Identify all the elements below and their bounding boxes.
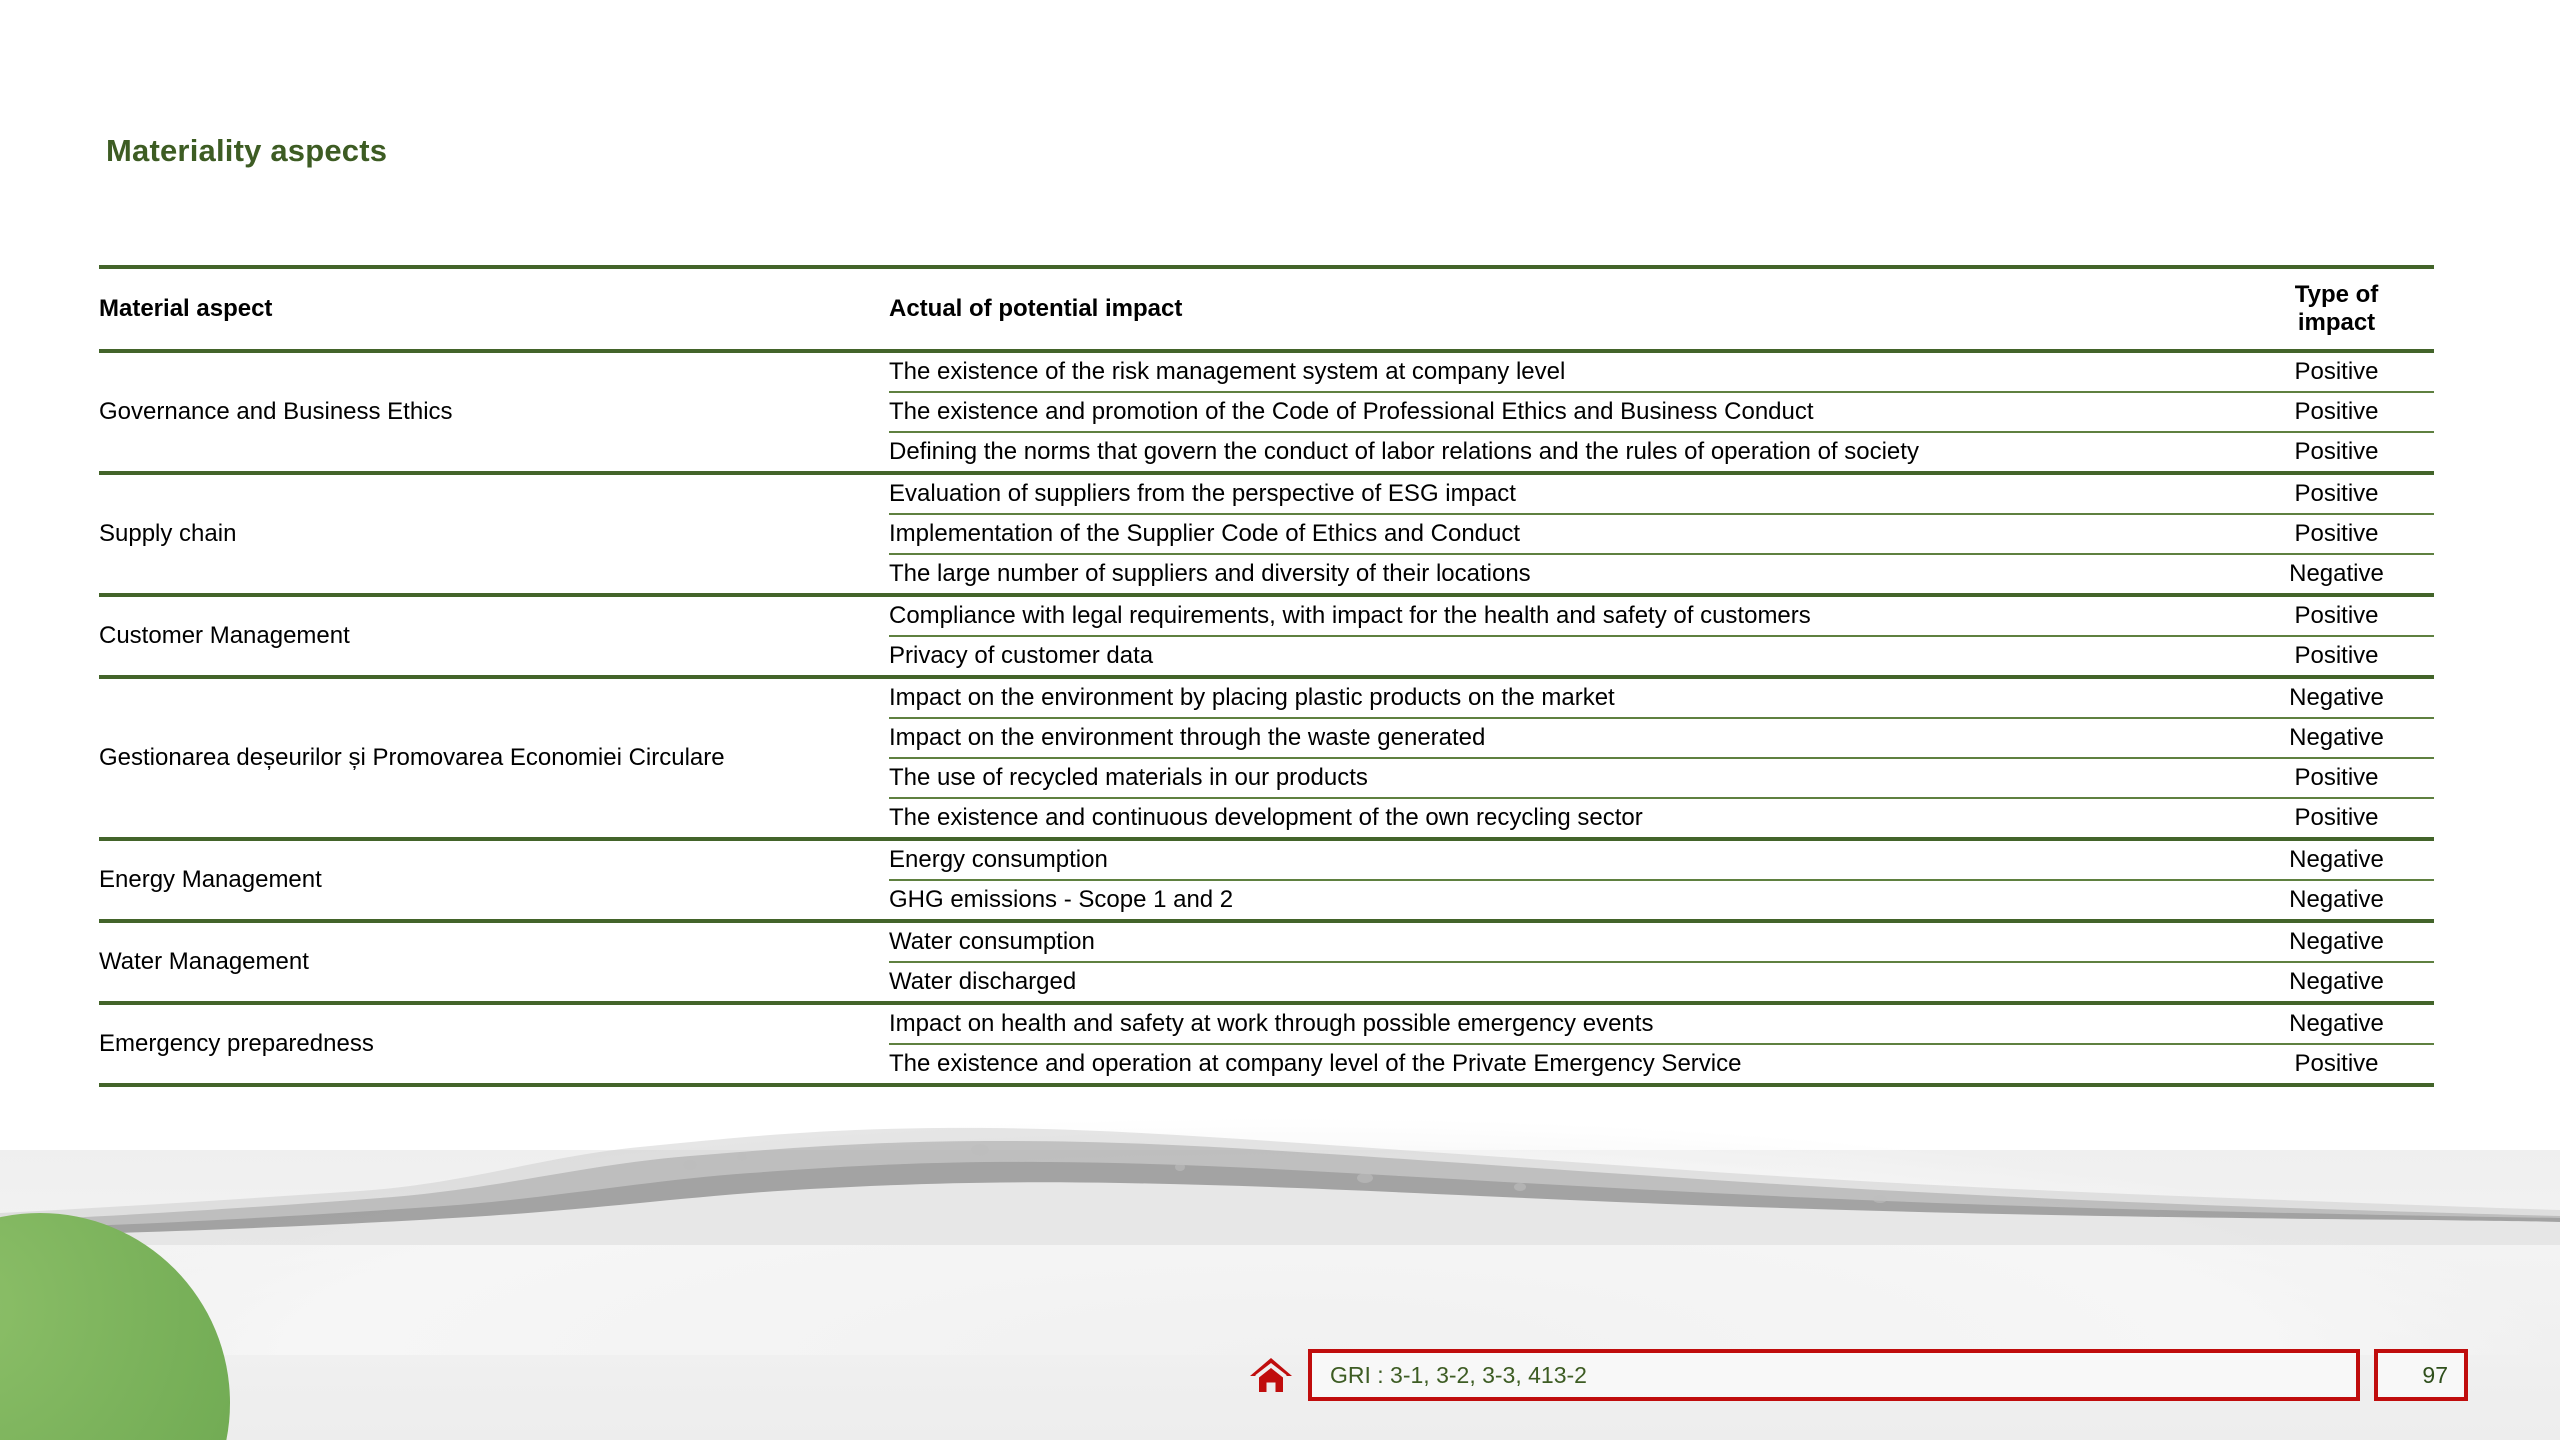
impact-type-cell: Positive [2239, 758, 2434, 798]
material-aspect-cell: Governance and Business Ethics [99, 351, 889, 473]
table-body: Governance and Business EthicsThe existe… [99, 351, 2434, 1085]
gri-reference-box[interactable]: GRI : 3-1, 3-2, 3-3, 413-2 [1308, 1349, 2360, 1401]
table-row: Supply chainEvaluation of suppliers from… [99, 473, 2434, 514]
column-header-type-of-impact: Type of impact [2239, 267, 2434, 351]
impact-description-cell: Privacy of customer data [889, 636, 2239, 677]
column-header-type-line2: impact [2298, 309, 2375, 336]
column-header-type-line1: Type of [2295, 281, 2379, 308]
material-aspect-cell: Supply chain [99, 473, 889, 595]
impact-type-cell: Positive [2239, 473, 2434, 514]
table-row: Governance and Business EthicsThe existe… [99, 351, 2434, 392]
water-surface-illustration [0, 1095, 2560, 1245]
impact-type-cell: Negative [2239, 554, 2434, 595]
material-aspect-cell: Water Management [99, 921, 889, 1003]
impact-description-cell: The existence and promotion of the Code … [889, 392, 2239, 432]
impact-type-cell: Negative [2239, 677, 2434, 718]
materiality-aspects-table: Material aspect Actual of potential impa… [99, 265, 2434, 1087]
material-aspect-cell: Customer Management [99, 595, 889, 677]
impact-description-cell: Implementation of the Supplier Code of E… [889, 514, 2239, 554]
impact-description-cell: Impact on health and safety at work thro… [889, 1003, 2239, 1044]
impact-description-cell: Impact on the environment through the wa… [889, 718, 2239, 758]
table-row: Energy ManagementEnergy consumptionNegat… [99, 839, 2434, 880]
page-number-box[interactable]: 97 [2374, 1349, 2468, 1401]
table-header-row: Material aspect Actual of potential impa… [99, 267, 2434, 351]
impact-description-cell: The use of recycled materials in our pro… [889, 758, 2239, 798]
material-aspect-cell: Gestionarea deșeurilor și Promovarea Eco… [99, 677, 889, 839]
impact-type-cell: Positive [2239, 351, 2434, 392]
impact-description-cell: Energy consumption [889, 839, 2239, 880]
impact-type-cell: Negative [2239, 921, 2434, 962]
impact-description-cell: Impact on the environment by placing pla… [889, 677, 2239, 718]
table-row: Water ManagementWater consumptionNegativ… [99, 921, 2434, 962]
impact-type-cell: Positive [2239, 432, 2434, 473]
impact-type-cell: Positive [2239, 798, 2434, 839]
material-aspect-cell: Energy Management [99, 839, 889, 921]
green-circle-accent [0, 1213, 230, 1440]
table-row: Emergency preparednessImpact on health a… [99, 1003, 2434, 1044]
impact-type-cell: Positive [2239, 595, 2434, 636]
table-row: Gestionarea deșeurilor și Promovarea Eco… [99, 677, 2434, 718]
table-header: Material aspect Actual of potential impa… [99, 267, 2434, 351]
gri-reference-text: GRI : 3-1, 3-2, 3-3, 413-2 [1330, 1362, 1587, 1389]
impact-type-cell: Positive [2239, 392, 2434, 432]
impact-description-cell: Water consumption [889, 921, 2239, 962]
impact-type-cell: Positive [2239, 1044, 2434, 1085]
impact-description-cell: The existence of the risk management sys… [889, 351, 2239, 392]
impact-description-cell: The existence and continuous development… [889, 798, 2239, 839]
impact-type-cell: Positive [2239, 514, 2434, 554]
material-aspect-cell: Emergency preparedness [99, 1003, 889, 1085]
column-header-material-aspect: Material aspect [99, 267, 889, 351]
footer-bar: GRI : 3-1, 3-2, 3-3, 413-2 97 [1248, 1347, 2468, 1403]
impact-type-cell: Negative [2239, 962, 2434, 1003]
table-row: Customer ManagementCompliance with legal… [99, 595, 2434, 636]
impact-type-cell: Negative [2239, 839, 2434, 880]
impact-type-cell: Negative [2239, 1003, 2434, 1044]
impact-description-cell: Water discharged [889, 962, 2239, 1003]
impact-type-cell: Positive [2239, 636, 2434, 677]
impact-description-cell: Evaluation of suppliers from the perspec… [889, 473, 2239, 514]
impact-description-cell: The large number of suppliers and divers… [889, 554, 2239, 595]
page-title: Materiality aspects [106, 133, 387, 169]
impact-description-cell: Compliance with legal requirements, with… [889, 595, 2239, 636]
impact-description-cell: Defining the norms that govern the condu… [889, 432, 2239, 473]
home-icon[interactable] [1248, 1355, 1294, 1395]
page-number-text: 97 [2422, 1362, 2448, 1389]
impact-type-cell: Negative [2239, 880, 2434, 921]
impact-type-cell: Negative [2239, 718, 2434, 758]
impact-description-cell: The existence and operation at company l… [889, 1044, 2239, 1085]
impact-description-cell: GHG emissions - Scope 1 and 2 [889, 880, 2239, 921]
column-header-impact: Actual of potential impact [889, 267, 2239, 351]
